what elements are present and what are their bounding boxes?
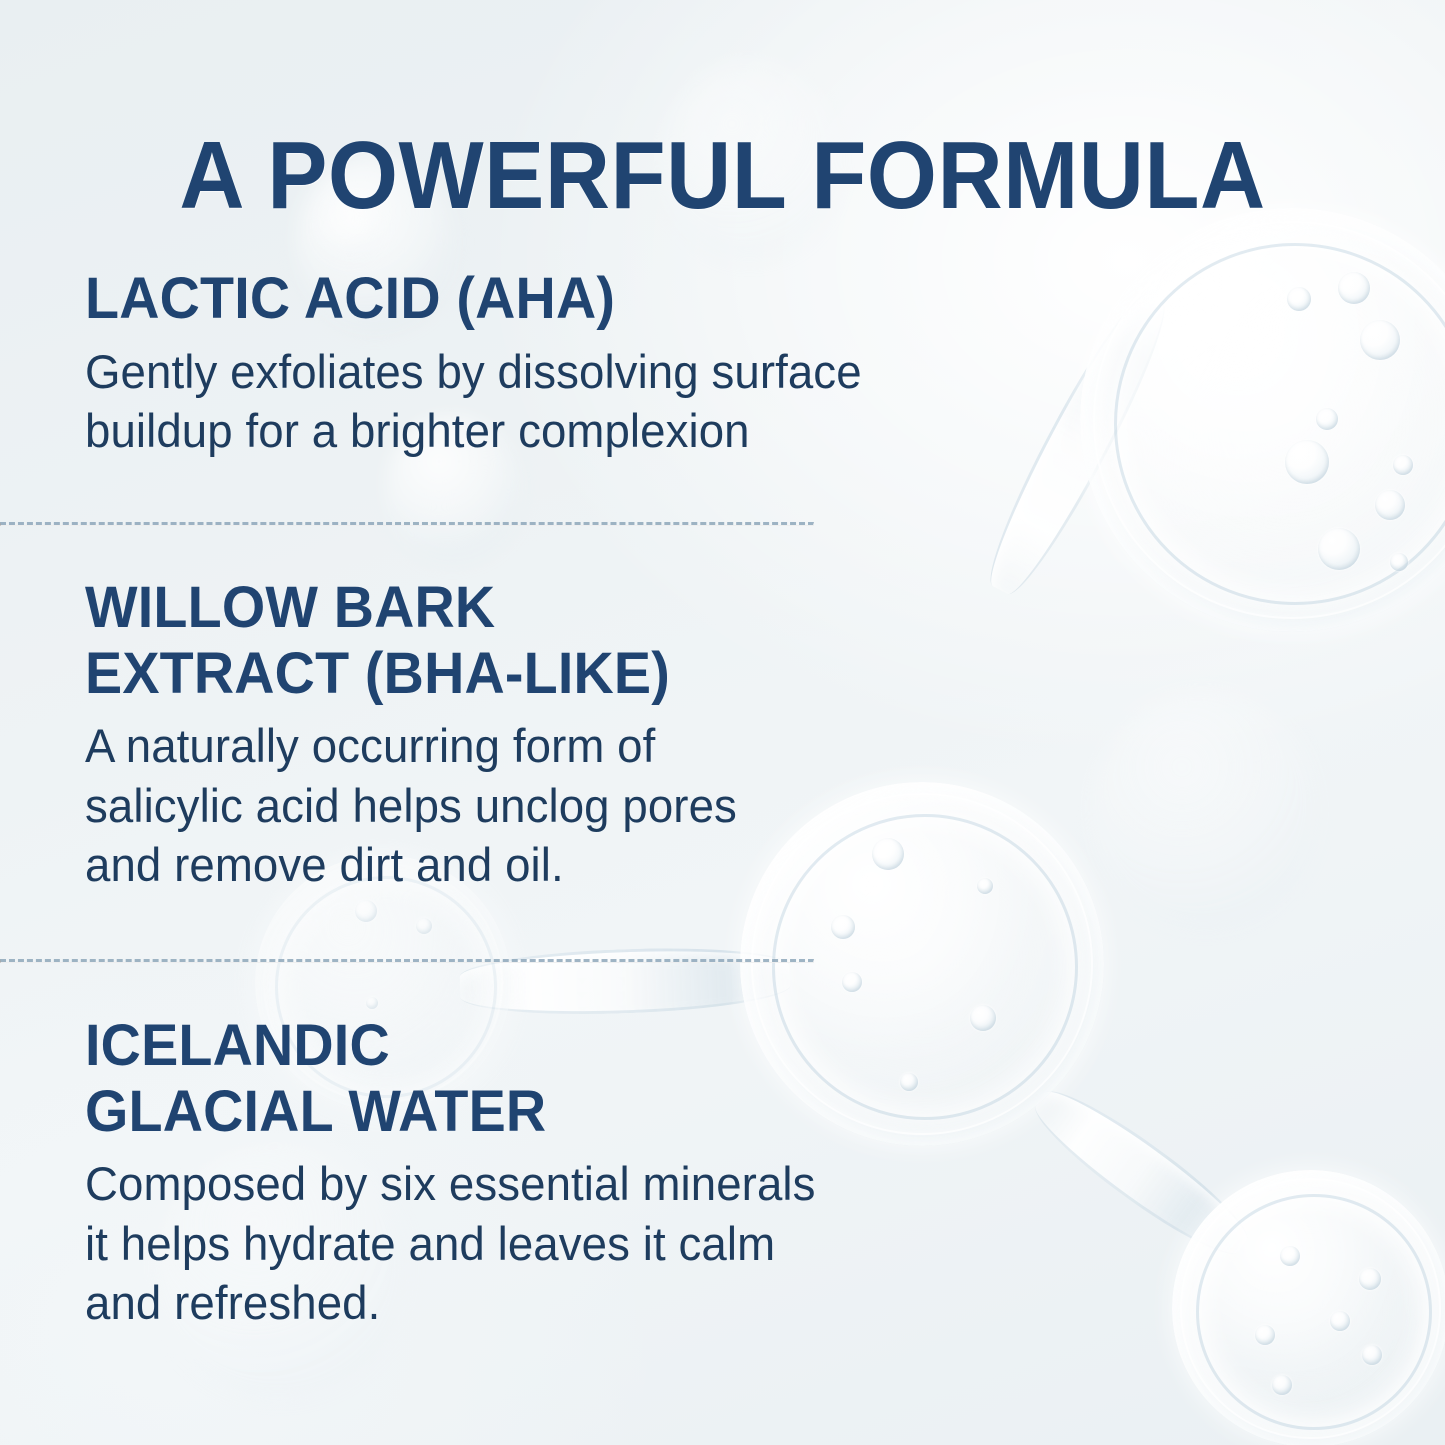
page-title: A POWERFUL FORMULA — [43, 128, 1401, 224]
ingredient-description: Composed by six essential minerals it he… — [85, 1154, 890, 1333]
ingredient-description: A naturally occurring form of salicylic … — [85, 716, 890, 895]
ingredient-block-lactic-acid: LACTIC ACID (AHA) Gently exfoliates by d… — [85, 266, 915, 461]
section-divider — [0, 522, 814, 526]
ingredient-heading: ICELANDIC GLACIAL WATER — [85, 1013, 882, 1144]
infographic-canvas: A POWERFUL FORMULA LACTIC ACID (AHA) Gen… — [0, 0, 1445, 1445]
ingredient-heading: LACTIC ACID (AHA) — [85, 266, 882, 332]
ingredient-description: Gently exfoliates by dissolving surface … — [85, 342, 890, 461]
ingredient-block-icelandic-water: ICELANDIC GLACIAL WATER Composed by six … — [85, 1013, 915, 1333]
section-divider — [0, 959, 814, 963]
ingredient-block-willow-bark: WILLOW BARK EXTRACT (BHA-LIKE) A natural… — [85, 575, 915, 895]
content-layer: A POWERFUL FORMULA LACTIC ACID (AHA) Gen… — [0, 0, 1445, 1445]
ingredient-heading: WILLOW BARK EXTRACT (BHA-LIKE) — [85, 575, 882, 706]
